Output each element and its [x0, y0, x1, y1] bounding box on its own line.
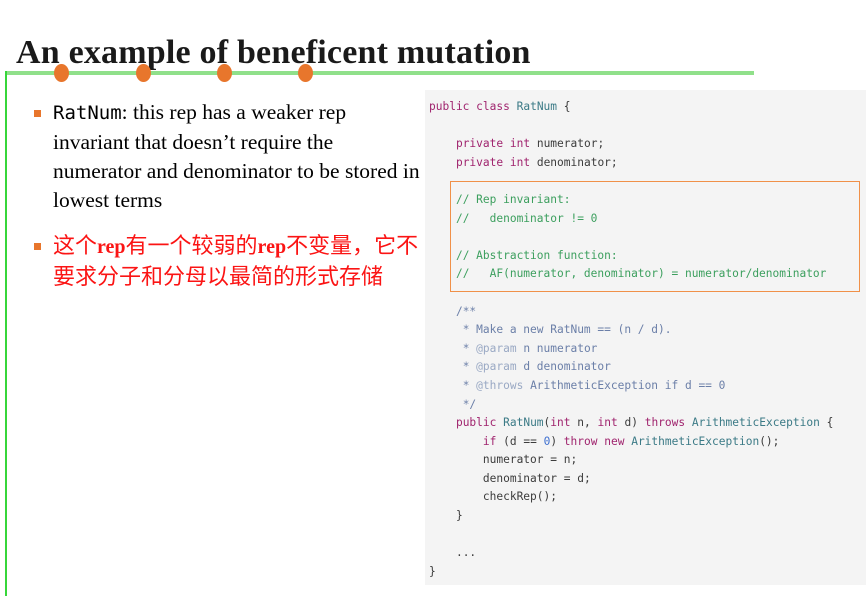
decorative-vertical-rule	[5, 71, 7, 596]
zh-segment-latin: rep	[97, 236, 126, 258]
code-panel: public class RatNum { private int numera…	[425, 90, 866, 585]
zh-segment: 这个	[53, 233, 97, 258]
bullet-text-english: RatNum: this rep has a weaker rep invari…	[53, 98, 426, 215]
zh-segment-latin: rep	[258, 236, 287, 258]
list-item: RatNum: this rep has a weaker rep invari…	[34, 98, 426, 215]
circle-dot-icon	[136, 64, 151, 82]
bullet-text-chinese: 这个rep有一个较弱的rep不变量，它不要求分子和分母以最简的形式存储	[53, 231, 426, 292]
decorative-horizontal-rule	[5, 71, 754, 75]
square-bullet-icon	[34, 243, 41, 250]
circle-dot-icon	[54, 64, 69, 82]
inline-code-ratnum: RatNum	[53, 102, 122, 124]
square-bullet-icon	[34, 110, 41, 117]
code-block: public class RatNum { private int numera…	[425, 90, 833, 581]
circle-dot-icon	[298, 64, 313, 82]
zh-segment: 有一个较弱的	[126, 233, 258, 258]
circle-dot-icon	[217, 64, 232, 82]
page-title: An example of beneficent mutation	[16, 31, 531, 75]
bullet-list: RatNum: this rep has a weaker rep invari…	[34, 98, 426, 308]
list-item: 这个rep有一个较弱的rep不变量，它不要求分子和分母以最简的形式存储	[34, 231, 426, 292]
